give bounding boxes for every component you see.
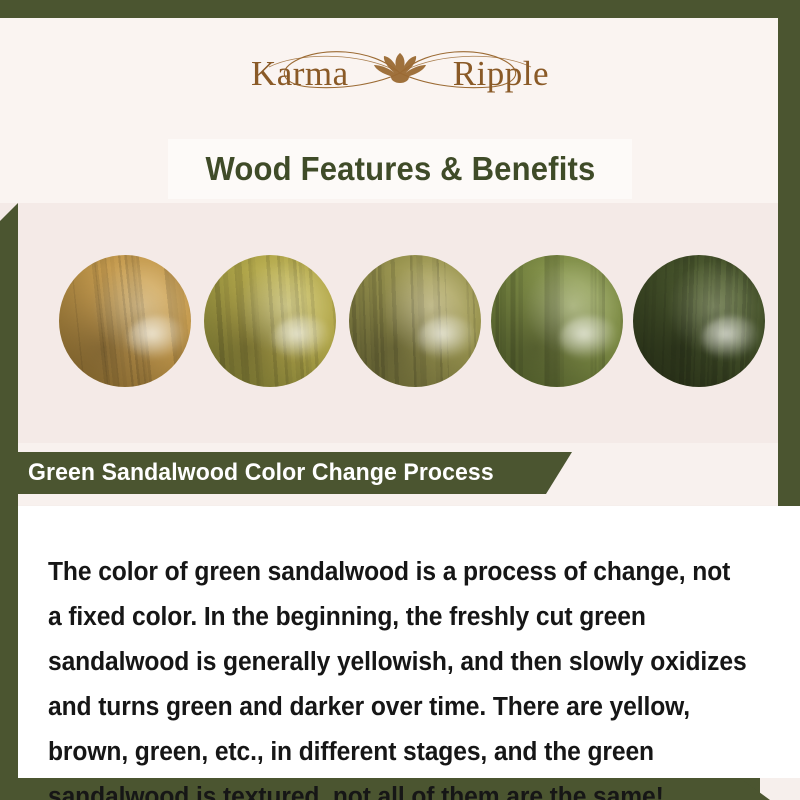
page-title-box: Wood Features & Benefits: [168, 139, 632, 199]
infographic-canvas: Karma Ripple Wood Features & Benefits Gr…: [0, 0, 800, 800]
body-paragraph: The color of green sandalwood is a proce…: [48, 550, 747, 800]
bead-stage-2: [204, 255, 336, 387]
bead-stage-5: [633, 255, 765, 387]
section-banner: Green Sandalwood Color Change Process: [0, 452, 572, 494]
bead-stage-1: [59, 255, 191, 387]
bead-stage-4: [491, 255, 623, 387]
frame-border-top: [0, 0, 800, 18]
body-card: The color of green sandalwood is a proce…: [18, 506, 800, 778]
page-title: Wood Features & Benefits: [205, 150, 595, 188]
bead-gallery: [0, 255, 800, 391]
brand-name-right: Ripple: [453, 56, 549, 91]
bead-stage-3: [349, 255, 481, 387]
brand-logo: Karma Ripple: [0, 40, 800, 106]
section-banner-label: Green Sandalwood Color Change Process: [28, 459, 494, 487]
brand-name-left: Karma: [251, 56, 349, 91]
